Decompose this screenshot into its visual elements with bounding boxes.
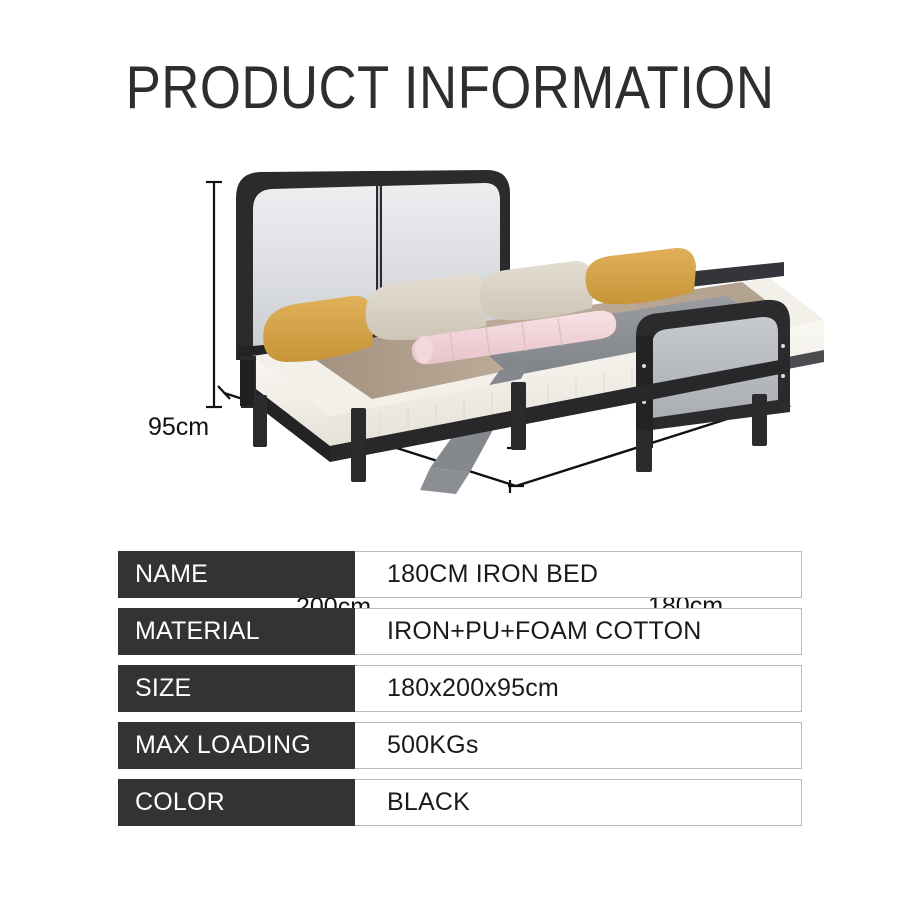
table-row: MAX LOADING 500KGs (118, 722, 802, 769)
dimension-label-height: 95cm (148, 413, 209, 442)
product-information-page: PRODUCT INFORMATION (0, 0, 900, 900)
spec-key-material: MATERIAL (118, 608, 355, 655)
bed-illustration (236, 170, 824, 494)
spec-table: NAME 180CM IRON BED MATERIAL IRON+PU+FOA… (118, 551, 802, 826)
table-row: MATERIAL IRON+PU+FOAM COTTON (118, 608, 802, 655)
spec-value-size: 180x200x95cm (355, 665, 802, 712)
spec-value-color: BLACK (355, 779, 802, 826)
product-illustration: 95cm 200cm 26cm 180cm (0, 150, 900, 510)
spec-value-max-loading: 500KGs (355, 722, 802, 769)
spec-value-material: IRON+PU+FOAM COTTON (355, 608, 802, 655)
spec-value-name: 180CM IRON BED (355, 551, 802, 598)
table-row: SIZE 180x200x95cm (118, 665, 802, 712)
table-row: NAME 180CM IRON BED (118, 551, 802, 598)
spec-key-max-loading: MAX LOADING (118, 722, 355, 769)
spec-key-name: NAME (118, 551, 355, 598)
spec-key-size: SIZE (118, 665, 355, 712)
bed-diagram-svg (0, 150, 900, 510)
spec-key-color: COLOR (118, 779, 355, 826)
page-title: PRODUCT INFORMATION (54, 58, 846, 118)
table-row: COLOR BLACK (118, 779, 802, 826)
